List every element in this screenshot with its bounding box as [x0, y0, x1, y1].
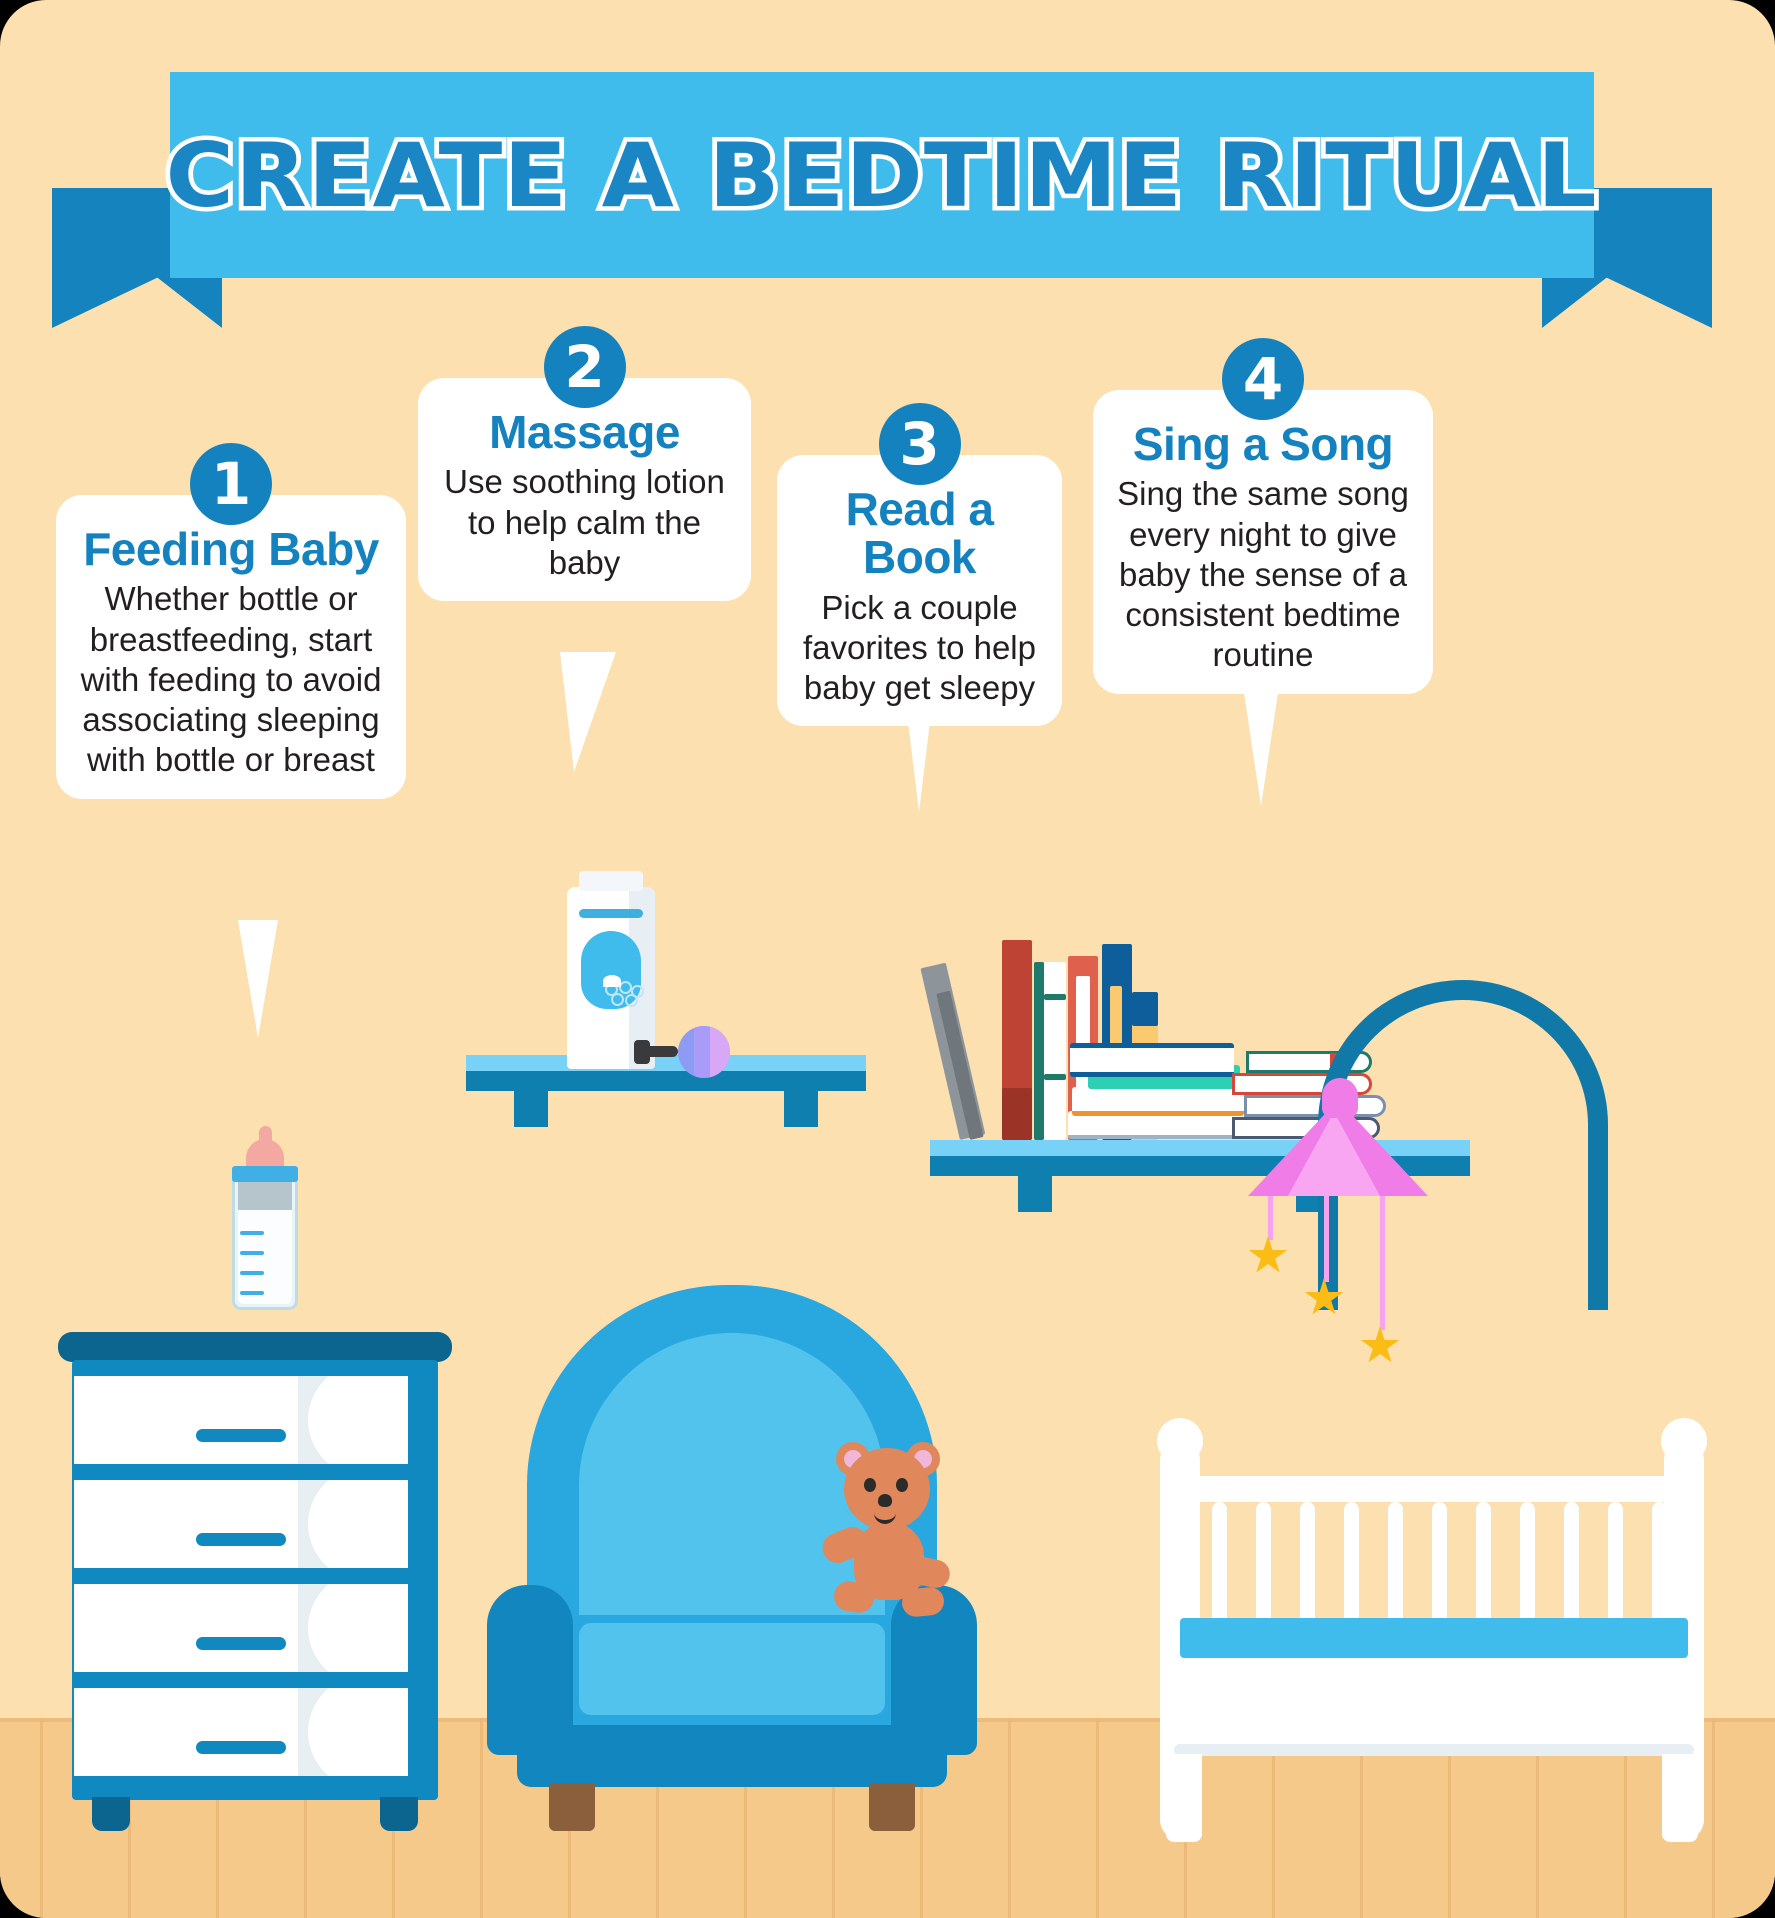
step-title: Feeding Baby — [74, 525, 388, 573]
banner-band: CREATE A BEDTIME RITUAL — [170, 72, 1594, 278]
mobile-canopy-highlight — [1288, 1112, 1380, 1196]
callout-tail-4 — [1243, 686, 1279, 806]
step-body: Pick a couple favorites to help baby get… — [795, 588, 1044, 709]
step-number-badge: 3 — [879, 403, 961, 485]
mobile-star-icon — [1248, 1236, 1288, 1276]
crib-mobile — [1318, 980, 1618, 1450]
callout-step-3[interactable]: 3 Read a Book Pick a couple favorites to… — [777, 455, 1062, 726]
crib — [1152, 1418, 1712, 1858]
page-title: CREATE A BEDTIME RITUAL — [166, 124, 1598, 227]
step-body: Whether bottle or breastfeeding, start w… — [74, 579, 388, 780]
step-number-badge: 1 — [190, 443, 272, 525]
callout-step-1[interactable]: 1 Feeding Baby Whether bottle or breastf… — [56, 495, 406, 799]
step-number-badge: 2 — [544, 326, 626, 408]
mobile-knob — [1322, 1078, 1358, 1118]
baby-bottle-icon — [232, 1143, 298, 1310]
callout-step-2[interactable]: 2 Massage Use soothing lotion to help ca… — [418, 378, 751, 601]
dresser-top — [58, 1332, 452, 1362]
dresser — [58, 1332, 452, 1827]
poster-card: CREATE A BEDTIME RITUAL — [0, 0, 1775, 1918]
infographic-canvas: CREATE A BEDTIME RITUAL — [0, 0, 1775, 1918]
title-banner: CREATE A BEDTIME RITUAL — [52, 72, 1712, 312]
callout-tail-1 — [238, 920, 278, 1038]
callout-tail-2 — [560, 652, 616, 772]
step-body: Use soothing lotion to help calm the bab… — [436, 462, 733, 583]
step-title: Sing a Song — [1111, 420, 1415, 468]
step-number-badge: 4 — [1222, 338, 1304, 420]
step-title: Massage — [436, 408, 733, 456]
crib-mattress — [1180, 1618, 1688, 1658]
baby-rattle-icon — [634, 1026, 730, 1078]
callout-step-4[interactable]: 4 Sing a Song Sing the same song every n… — [1093, 390, 1433, 694]
step-body: Sing the same song every night to give b… — [1111, 474, 1415, 675]
step-title: Read a Book — [795, 485, 1044, 582]
teddy-bear-icon — [826, 1442, 944, 1612]
mobile-star-icon — [1360, 1326, 1400, 1366]
